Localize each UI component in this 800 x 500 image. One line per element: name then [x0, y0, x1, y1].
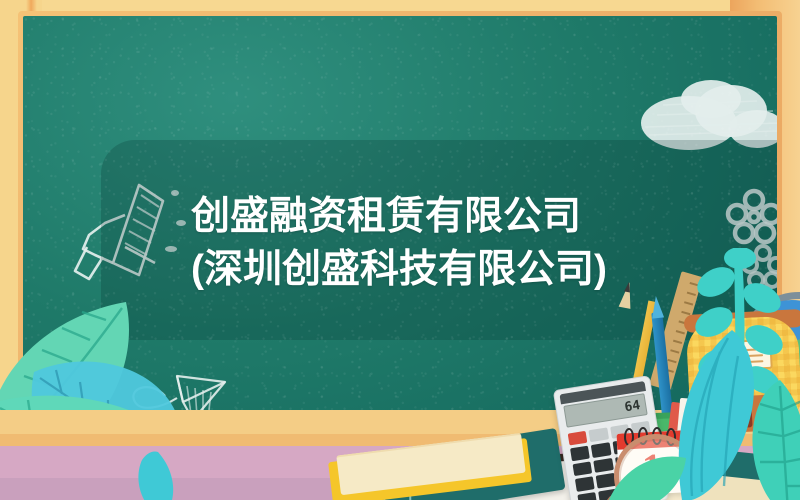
desk-surface [0, 380, 800, 500]
page-title: 创盛融资租赁有限公司(深圳创盛科技有限公司) [191, 190, 621, 296]
poster-canvas: 创盛融资租赁有限公司(深圳创盛科技有限公司) [0, 0, 800, 500]
